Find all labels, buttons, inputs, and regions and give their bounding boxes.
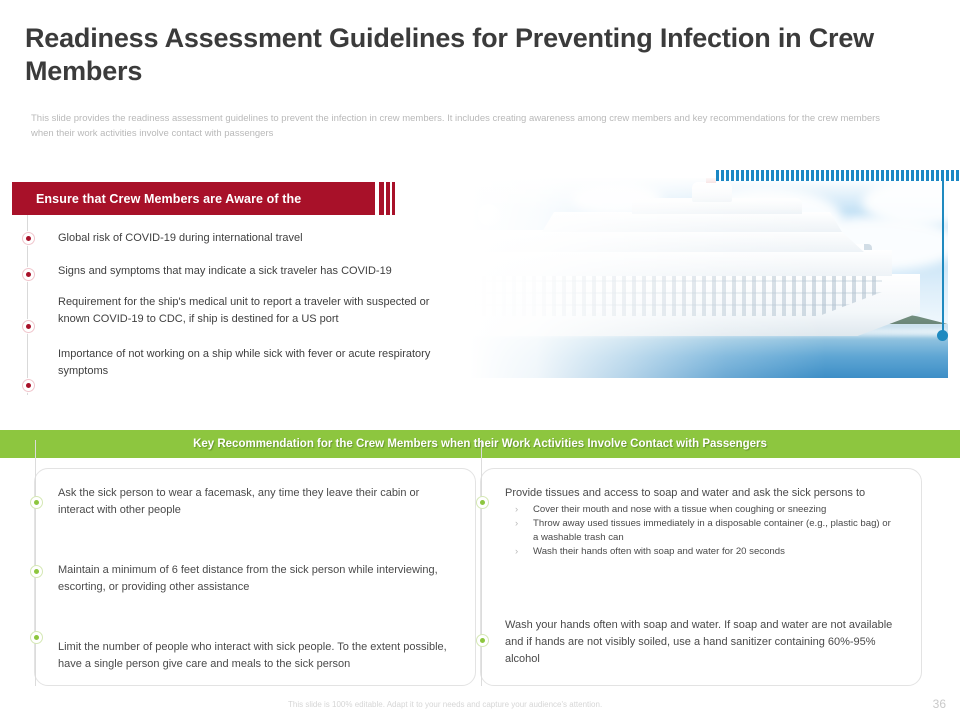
chevron-right-icon: › — [515, 545, 518, 559]
sub-list-item: ›Cover their mouth and nose with a tissu… — [505, 503, 895, 517]
list-item: Provide tissues and access to soap and w… — [505, 485, 895, 502]
page-subtitle: This slide provides the readiness assess… — [31, 112, 896, 141]
recommendation-bullet-dot — [30, 631, 43, 644]
recommendation-bullet-dot — [30, 565, 43, 578]
recommendation-bullet-dot — [30, 496, 43, 509]
right-connector-line — [942, 181, 944, 333]
awareness-list: Global risk of COVID-19 during internati… — [58, 230, 458, 394]
cruise-ship-photo — [392, 178, 948, 378]
list-item: Global risk of COVID-19 during internati… — [58, 230, 458, 247]
recommendation-bullet-dot — [476, 634, 489, 647]
list-item: Importance of not working on a ship whil… — [58, 346, 458, 380]
sub-list-item-label: Cover their mouth and nose with a tissue… — [533, 504, 826, 515]
recommendations-left-rail — [35, 440, 36, 686]
recommendations-heading-bar: Key Recommendation for the Crew Members … — [0, 430, 960, 458]
recommendations-left-list: Ask the sick person to wear a facemask, … — [58, 485, 448, 673]
red-accent-bar-3 — [392, 182, 395, 215]
sub-list-item-label: Wash their hands often with soap and wat… — [533, 546, 785, 557]
chevron-right-icon: › — [515, 503, 518, 517]
dotted-accent-band — [716, 170, 960, 181]
sub-list-item-label: Throw away used tissues immediately in a… — [533, 518, 891, 543]
sub-list-item: ›Throw away used tissues immediately in … — [505, 517, 895, 545]
awareness-bullet-dot — [22, 232, 35, 245]
red-accent-bar-2 — [386, 182, 390, 215]
chevron-right-icon: › — [515, 517, 518, 531]
recommendations-right-rail — [481, 440, 482, 686]
list-item: Wash your hands often with soap and wate… — [505, 617, 895, 668]
recommendation-sublist: ›Cover their mouth and nose with a tissu… — [505, 503, 895, 559]
footer-note: This slide is 100% editable. Adapt it to… — [288, 700, 808, 709]
recommendation-bullet-dot — [476, 496, 489, 509]
awareness-heading-label: Ensure that Crew Members are Aware of th… — [36, 182, 365, 215]
list-item: Signs and symptoms that may indicate a s… — [58, 263, 458, 280]
right-connector-dot — [937, 330, 948, 341]
awareness-bullet-dot — [22, 320, 35, 333]
list-item: Ask the sick person to wear a facemask, … — [58, 485, 448, 519]
page-number: 36 — [933, 697, 946, 711]
sub-list-item: ›Wash their hands often with soap and wa… — [505, 545, 895, 559]
red-accent-bar-1 — [379, 182, 384, 215]
list-item: Limit the number of people who interact … — [58, 639, 448, 673]
awareness-bullet-dot — [22, 268, 35, 281]
list-item: Requirement for the ship's medical unit … — [58, 294, 458, 328]
recommendations-heading-label: Key Recommendation for the Crew Members … — [193, 438, 767, 450]
list-item: Maintain a minimum of 6 feet distance fr… — [58, 562, 448, 596]
photo-top-fade — [392, 178, 948, 212]
slide-canvas: Readiness Assessment Guidelines for Prev… — [0, 0, 960, 720]
recommendations-right-list: Provide tissues and access to soap and w… — [505, 485, 895, 668]
page-title: Readiness Assessment Guidelines for Prev… — [25, 22, 925, 89]
awareness-bullet-dot — [22, 379, 35, 392]
awareness-heading-chip: Ensure that Crew Members are Aware of th… — [12, 182, 375, 215]
